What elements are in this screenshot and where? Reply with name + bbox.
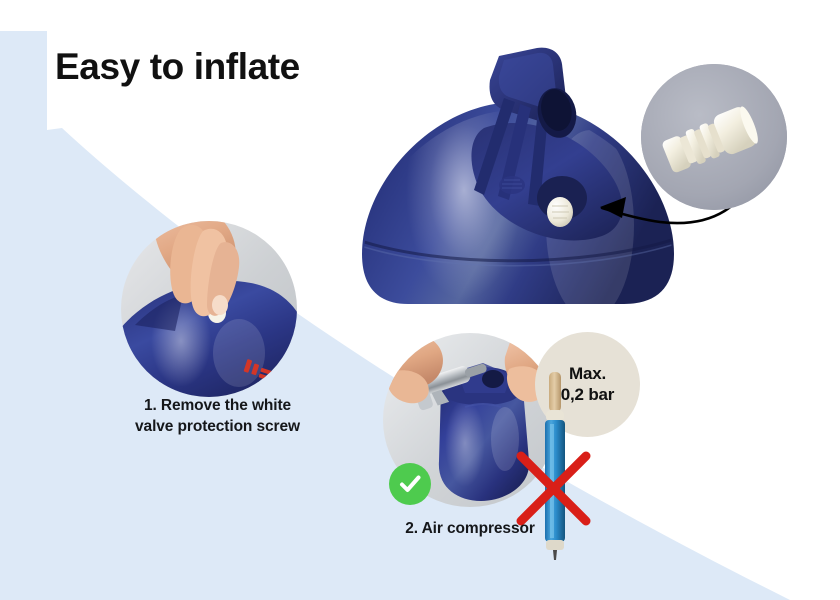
pump-base [546, 540, 564, 550]
step-2-gloss [445, 399, 485, 487]
step-1-photo [121, 221, 297, 397]
step-2-caption-line-1: 2. Air compressor [375, 518, 565, 539]
step-2-caption: 2. Air compressor [375, 518, 565, 539]
step-1-image [121, 221, 297, 397]
check-badge [389, 463, 431, 505]
pump-needle [553, 550, 557, 560]
pump-handle [549, 372, 561, 412]
step-1-caption-line-2: valve protection screw [95, 416, 340, 437]
buoy-emboss-mark [499, 176, 525, 194]
valve-closeup-image [641, 64, 787, 210]
step-1-caption: 1. Remove the white valve protection scr… [95, 395, 340, 438]
step-1-caption-line-1: 1. Remove the white [95, 395, 340, 416]
poster-canvas: Easy to inflate [0, 0, 840, 600]
notch-top-left [0, 0, 47, 31]
step-2-rope-hole [482, 370, 504, 388]
arrow-head [600, 197, 626, 218]
step-1-buoy-gloss-2 [213, 319, 265, 387]
thumb-nail [212, 295, 228, 315]
cross-icon [515, 450, 592, 527]
check-icon [397, 471, 423, 497]
valve-closeup-inset [641, 64, 787, 210]
page-title: Easy to inflate [55, 48, 300, 87]
